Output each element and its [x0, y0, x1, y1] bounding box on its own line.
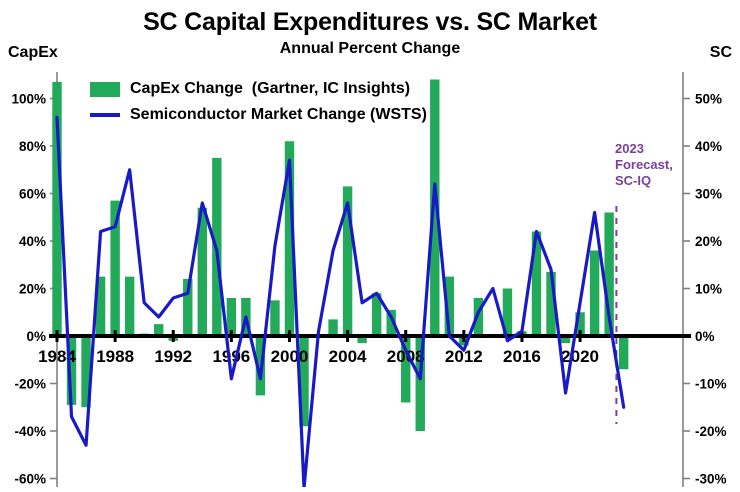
left-axis-tick-label: 0%	[26, 329, 46, 344]
left-axis-tick-label: 100%	[11, 92, 46, 107]
x-axis-tick-label: 1992	[154, 347, 192, 366]
x-axis-tick-label: 2020	[561, 347, 599, 366]
right-axis-tick-label: -10%	[695, 377, 727, 392]
left-axis-tick-label: -40%	[14, 424, 46, 439]
left-axis-tick-label: -60%	[14, 472, 46, 487]
right-axis-tick-label: 10%	[695, 282, 722, 297]
left-axis-tick-label: 60%	[19, 187, 46, 202]
left-axis-tick-label: -20%	[14, 377, 46, 392]
x-axis-tick-label: 1996	[212, 347, 250, 366]
right-axis-tick-label: -30%	[695, 472, 727, 487]
right-axis-tick-label: 50%	[695, 92, 722, 107]
bar	[590, 251, 599, 337]
bar	[270, 300, 279, 336]
right-axis-tick-label: 30%	[695, 187, 722, 202]
right-axis-tick-label: 0%	[695, 329, 715, 344]
x-axis-tick-label: 2004	[329, 347, 367, 366]
bar	[328, 319, 337, 336]
left-axis-tick-label: 20%	[19, 282, 46, 297]
chart-root: SC Capital Expenditures vs. SC Market An…	[0, 0, 740, 492]
x-axis-tick-label: 2016	[503, 347, 541, 366]
x-axis-tick-label: 2000	[271, 347, 309, 366]
bar	[619, 336, 628, 369]
x-axis-group: 1984198819921996200020042008201220162020	[38, 330, 691, 366]
x-axis-tick-label: 1984	[38, 347, 76, 366]
right-axis-tick-label: 20%	[695, 234, 722, 249]
chart-canvas: -60%-40%-20%0%20%40%60%80%100%-30%-20%-1…	[0, 0, 740, 492]
bar	[125, 277, 134, 336]
right-axis-tick-label: -20%	[695, 424, 727, 439]
right-axis-tick-label: 40%	[695, 139, 722, 154]
left-axis-tick-label: 80%	[19, 139, 46, 154]
left-axis-tick-label: 40%	[19, 234, 46, 249]
x-axis-tick-label: 1988	[96, 347, 134, 366]
